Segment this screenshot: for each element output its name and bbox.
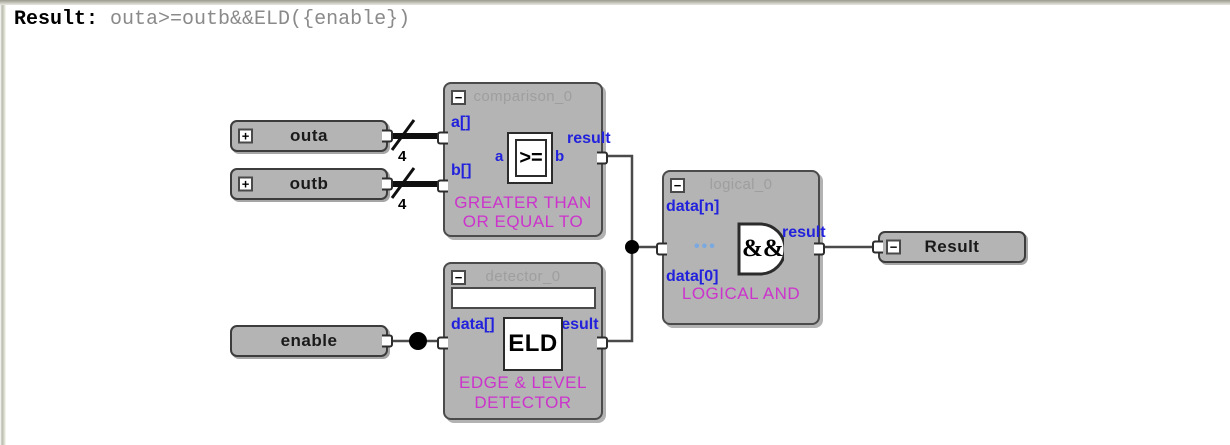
expression-result-label: Result bbox=[14, 8, 86, 31]
comparison-pin-b[interactable]: b[] bbox=[451, 162, 471, 180]
window-top-border bbox=[0, 0, 1230, 5]
output-port-result[interactable]: − Result bbox=[878, 231, 1026, 263]
expression-text: outa>=outb&&ELD({enable}) bbox=[110, 8, 410, 31]
logical-title: logical_0 bbox=[664, 176, 818, 193]
detector-parameter-value bbox=[453, 289, 594, 293]
detector-caption-line1: EDGE & LEVEL bbox=[445, 374, 601, 392]
outa-bus-width-label: 4 bbox=[398, 148, 406, 165]
schematic-canvas: Result: outa>=outb&&ELD({enable}) bbox=[0, 0, 1230, 445]
logical-operator-symbol: && bbox=[742, 235, 784, 263]
input-port-enable[interactable]: enable bbox=[230, 325, 388, 357]
comparison-pin-result[interactable]: result bbox=[567, 130, 611, 148]
comparison-symbol-box: >= bbox=[507, 132, 553, 184]
result-collapse-icon[interactable]: − bbox=[886, 240, 901, 255]
window-left-border bbox=[0, 5, 6, 445]
outb-output-connector[interactable] bbox=[382, 178, 393, 191]
logical-pin-result[interactable]: result bbox=[782, 224, 826, 242]
detector-output-connector[interactable] bbox=[597, 337, 608, 350]
detector-pin-data[interactable]: data[] bbox=[451, 316, 495, 334]
comparison-operator-symbol: >= bbox=[519, 147, 542, 170]
logical-caption-line1: LOGICAL AND bbox=[664, 285, 818, 303]
outa-output-connector[interactable] bbox=[382, 130, 393, 143]
block-logical-0[interactable]: − logical_0 data[n] data[0] result ••• &… bbox=[662, 170, 820, 325]
comparison-input-connector-a[interactable] bbox=[437, 132, 448, 145]
comparison-output-connector[interactable] bbox=[597, 152, 608, 165]
detector-parameter-field[interactable] bbox=[451, 287, 596, 309]
outb-label: outb bbox=[290, 174, 329, 194]
comparison-caption-line2: OR EQUAL TO bbox=[445, 213, 601, 231]
input-port-outa[interactable]: + outa bbox=[230, 120, 388, 152]
comparison-input-connector-b[interactable] bbox=[437, 180, 448, 193]
outb-bus-width-label: 4 bbox=[398, 196, 406, 213]
wire-layer bbox=[0, 0, 1230, 445]
outa-label: outa bbox=[290, 126, 328, 146]
detector-title: detector_0 bbox=[445, 268, 601, 285]
comparison-caption-line1: GREATER THAN bbox=[445, 194, 601, 212]
logical-output-connector[interactable] bbox=[814, 243, 825, 256]
logical-and-gate-shape: && bbox=[736, 221, 784, 277]
detector-input-connector[interactable] bbox=[437, 337, 448, 350]
comparison-symbol-input-a: a bbox=[495, 148, 503, 165]
detector-symbol-text: ELD bbox=[508, 330, 558, 358]
block-comparison-0[interactable]: − comparison_0 a[] b[] result >= a b GRE… bbox=[443, 82, 603, 237]
detector-symbol-box: ELD bbox=[503, 317, 563, 371]
expression-header: Result: outa>=outb&&ELD({enable}) bbox=[14, 8, 410, 31]
enable-label: enable bbox=[281, 331, 338, 351]
outa-expand-icon[interactable]: + bbox=[238, 129, 253, 144]
detector-caption-line2: DETECTOR bbox=[445, 394, 601, 412]
input-port-outb[interactable]: + outb bbox=[230, 168, 388, 200]
logical-input-connector[interactable] bbox=[656, 243, 667, 256]
block-detector-0[interactable]: − detector_0 data[] result ELD EDGE & LE… bbox=[443, 262, 603, 420]
expression-separator: : bbox=[86, 8, 110, 31]
result-input-connector[interactable] bbox=[872, 241, 883, 254]
comparison-pin-a[interactable]: a[] bbox=[451, 114, 471, 132]
logical-pin-ellipsis: ••• bbox=[694, 238, 717, 256]
comparison-title: comparison_0 bbox=[445, 88, 601, 105]
outb-expand-icon[interactable]: + bbox=[238, 177, 253, 192]
comparison-symbol-input-b: b bbox=[555, 148, 564, 165]
result-label: Result bbox=[925, 237, 980, 257]
logical-pin-data-n[interactable]: data[n] bbox=[666, 198, 719, 216]
enable-output-connector[interactable] bbox=[382, 335, 393, 348]
